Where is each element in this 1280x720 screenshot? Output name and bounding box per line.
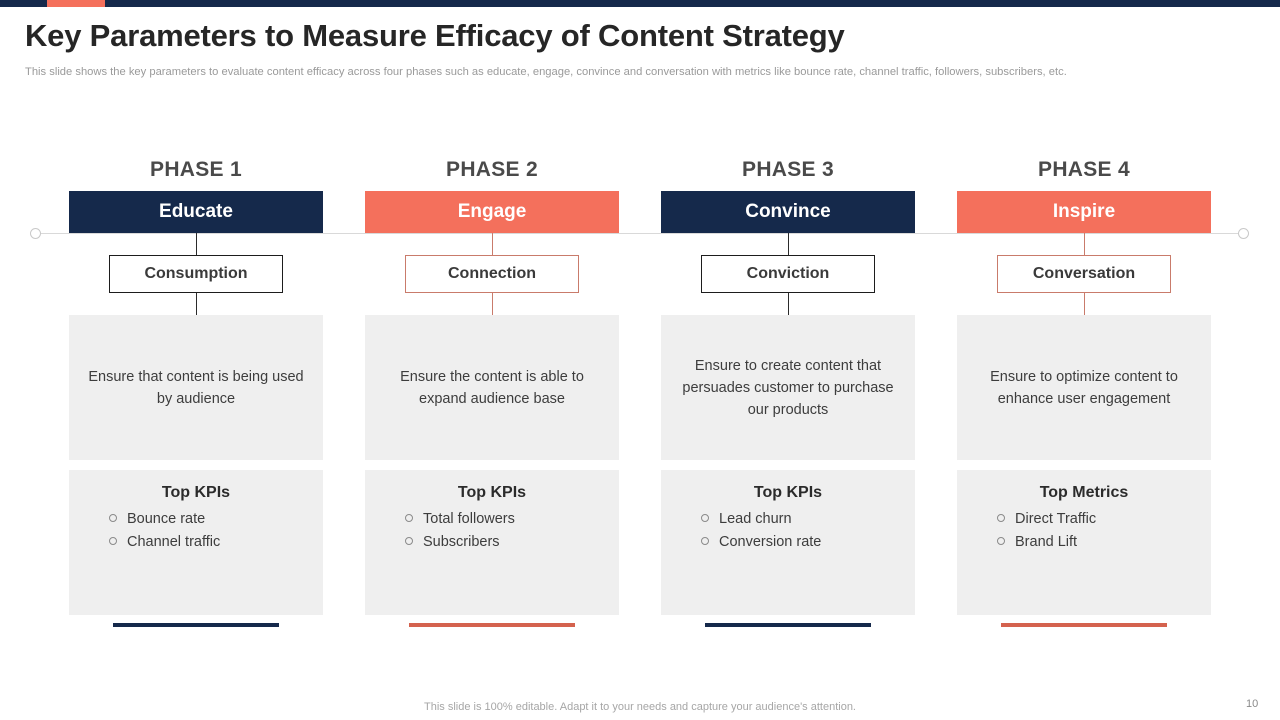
kpi-title-3: Top KPIs: [661, 484, 915, 502]
kpi-text: Direct Traffic: [1015, 511, 1096, 527]
sub-box-2[interactable]: Connection: [405, 255, 579, 293]
phase-label-1: PHASE 1: [69, 158, 323, 182]
stage-bar-1[interactable]: Educate: [69, 191, 323, 233]
description-text-1: Ensure that content is being used by aud…: [81, 366, 311, 410]
footer-note: This slide is 100% editable. Adapt it to…: [0, 701, 1280, 713]
description-text-2: Ensure the content is able to expand aud…: [377, 366, 607, 410]
connector-stage-to-sub-2: [492, 233, 493, 255]
stage-bar-4[interactable]: Inspire: [957, 191, 1211, 233]
description-box-2: Ensure the content is able to expand aud…: [365, 315, 619, 460]
kpi-text: Subscribers: [423, 534, 500, 550]
circle-bullet-icon: [109, 514, 117, 522]
circle-bullet-icon: [701, 537, 709, 545]
description-text-4: Ensure to optimize content to enhance us…: [969, 366, 1199, 410]
circle-bullet-icon: [701, 514, 709, 522]
description-text-3: Ensure to create content that persuades …: [673, 355, 903, 421]
list-item: Brand Lift: [997, 531, 1211, 554]
kpi-box-2: Top KPIs Total followers Subscribers: [365, 470, 619, 615]
kpi-box-3: Top KPIs Lead churn Conversion rate: [661, 470, 915, 615]
kpi-text: Total followers: [423, 511, 515, 527]
kpi-text: Lead churn: [719, 511, 792, 527]
list-item: Conversion rate: [701, 531, 915, 554]
top-accent-bar: [0, 0, 1280, 7]
connector-stage-to-sub-1: [196, 233, 197, 255]
kpi-box-4: Top Metrics Direct Traffic Brand Lift: [957, 470, 1211, 615]
kpi-list-3: Lead churn Conversion rate: [661, 508, 915, 554]
list-item: Channel traffic: [109, 531, 323, 554]
sub-box-3[interactable]: Conviction: [701, 255, 875, 293]
phase-column-2: PHASE 2 Engage Connection Ensure the con…: [365, 158, 619, 627]
slide-root: Key Parameters to Measure Efficacy of Co…: [0, 0, 1280, 720]
sub-box-1[interactable]: Consumption: [109, 255, 283, 293]
phase-label-3: PHASE 3: [661, 158, 915, 182]
list-item: Total followers: [405, 508, 619, 531]
stage-bar-2[interactable]: Engage: [365, 191, 619, 233]
connector-sub-to-desc-2: [492, 293, 493, 315]
connector-sub-to-desc-1: [196, 293, 197, 315]
connector-stage-to-sub-4: [1084, 233, 1085, 255]
kpi-title-2: Top KPIs: [365, 484, 619, 502]
circle-bullet-icon: [405, 514, 413, 522]
column-underline-3: [705, 623, 871, 627]
list-item: Direct Traffic: [997, 508, 1211, 531]
stage-bar-3[interactable]: Convince: [661, 191, 915, 233]
kpi-text: Channel traffic: [127, 534, 220, 550]
page-number: 10: [1246, 698, 1258, 710]
kpi-text: Conversion rate: [719, 534, 821, 550]
kpi-list-4: Direct Traffic Brand Lift: [957, 508, 1211, 554]
top-accent-highlight: [47, 0, 105, 7]
spacer-4: [957, 460, 1211, 470]
timeline-end-dot-icon: [1238, 228, 1249, 239]
column-underline-4: [1001, 623, 1167, 627]
column-underline-1: [113, 623, 279, 627]
phase-label-2: PHASE 2: [365, 158, 619, 182]
kpi-list-1: Bounce rate Channel traffic: [69, 508, 323, 554]
list-item: Lead churn: [701, 508, 915, 531]
phase-column-1: PHASE 1 Educate Consumption Ensure that …: [69, 158, 323, 627]
sub-box-4[interactable]: Conversation: [997, 255, 1171, 293]
kpi-title-4: Top Metrics: [957, 484, 1211, 502]
spacer-2: [365, 460, 619, 470]
spacer-3: [661, 460, 915, 470]
list-item: Subscribers: [405, 531, 619, 554]
phase-column-4: PHASE 4 Inspire Conversation Ensure to o…: [957, 158, 1211, 627]
connector-sub-to-desc-4: [1084, 293, 1085, 315]
spacer-1: [69, 460, 323, 470]
circle-bullet-icon: [997, 514, 1005, 522]
description-box-3: Ensure to create content that persuades …: [661, 315, 915, 460]
kpi-text: Brand Lift: [1015, 534, 1077, 550]
description-box-1: Ensure that content is being used by aud…: [69, 315, 323, 460]
kpi-title-1: Top KPIs: [69, 484, 323, 502]
column-underline-2: [409, 623, 575, 627]
connector-sub-to-desc-3: [788, 293, 789, 315]
circle-bullet-icon: [997, 537, 1005, 545]
description-box-4: Ensure to optimize content to enhance us…: [957, 315, 1211, 460]
phase-column-3: PHASE 3 Convince Conviction Ensure to cr…: [661, 158, 915, 627]
circle-bullet-icon: [405, 537, 413, 545]
list-item: Bounce rate: [109, 508, 323, 531]
page-title: Key Parameters to Measure Efficacy of Co…: [25, 18, 1125, 54]
page-subtitle: This slide shows the key parameters to e…: [25, 64, 1165, 80]
timeline-start-dot-icon: [30, 228, 41, 239]
circle-bullet-icon: [109, 537, 117, 545]
connector-stage-to-sub-3: [788, 233, 789, 255]
kpi-list-2: Total followers Subscribers: [365, 508, 619, 554]
kpi-text: Bounce rate: [127, 511, 205, 527]
kpi-box-1: Top KPIs Bounce rate Channel traffic: [69, 470, 323, 615]
phase-label-4: PHASE 4: [957, 158, 1211, 182]
